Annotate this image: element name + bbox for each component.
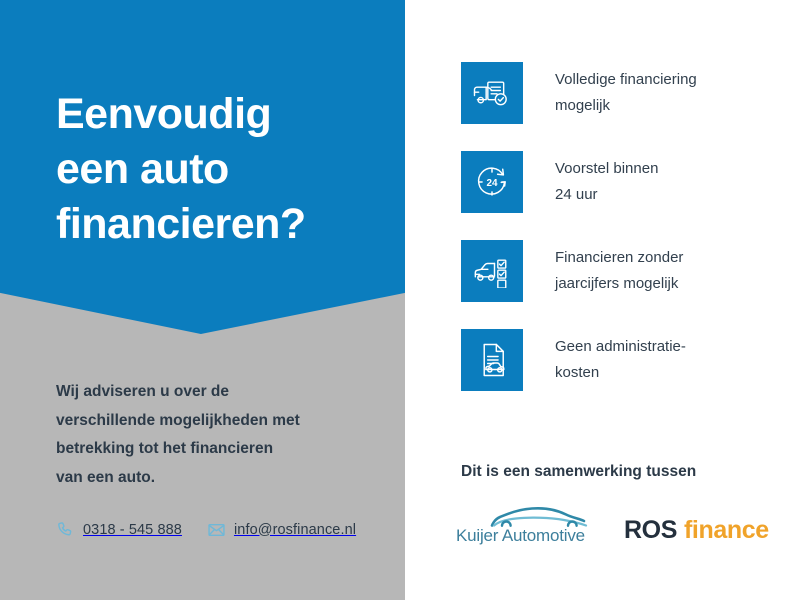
email-address: info@rosfinance.nl — [234, 522, 356, 538]
phone-number: 0318 - 545 888 — [83, 522, 182, 538]
contact-phone[interactable]: 0318 - 545 888 — [57, 521, 182, 538]
left-panel: Eenvoudig een auto financieren? Wij advi… — [0, 0, 405, 600]
feature-2-line-2: 24 uur — [555, 182, 780, 208]
truck-document-icon — [461, 62, 523, 124]
feature-item-zonder-jaarcijfers: Financieren zonder jaarcijfers mogelijk — [461, 240, 791, 302]
right-panel: Volledige financiering mogelijk 24 V — [405, 0, 800, 600]
contact-email[interactable]: info@rosfinance.nl — [208, 521, 356, 538]
envelope-icon — [208, 521, 225, 538]
contact-row: 0318 - 545 888 info@rosfinance.nl — [57, 521, 356, 538]
intro-line-4: van een auto. — [56, 464, 376, 493]
phone-icon — [57, 521, 74, 538]
feature-label: Volledige financiering mogelijk — [555, 62, 780, 119]
feature-label: Voorstel binnen 24 uur — [555, 151, 780, 208]
ros-finance-logo[interactable]: ROSfinance — [624, 516, 769, 549]
feature-3-line-2: jaarcijfers mogelijk — [555, 271, 780, 297]
ros-finance-word: finance — [684, 516, 769, 544]
feature-4-line-2: kosten — [555, 360, 780, 386]
kuijer-automotive-logo[interactable]: Kuijer Automotive — [456, 505, 596, 549]
intro-line-2: verschillende mogelijkheden met — [56, 407, 376, 436]
feature-4-line-1: Geen administratie- — [555, 334, 780, 360]
car-checklist-icon — [461, 240, 523, 302]
feature-2-line-1: Voorstel binnen — [555, 156, 780, 182]
feature-item-geen-administratiekosten: Geen administratie- kosten — [461, 329, 791, 391]
kuijer-automotive-label: Kuijer Automotive — [456, 526, 585, 546]
feature-list: Volledige financiering mogelijk 24 V — [461, 62, 791, 418]
svg-text:24: 24 — [486, 178, 498, 189]
feature-1-line-1: Volledige financiering — [555, 67, 780, 93]
page-title: Eenvoudig een auto financieren? — [56, 87, 386, 252]
feature-label: Geen administratie- kosten — [555, 329, 780, 386]
feature-1-line-2: mogelijk — [555, 93, 780, 119]
promo-poster: Eenvoudig een auto financieren? Wij advi… — [0, 0, 800, 600]
feature-item-voorstel-24-uur: 24 Voorstel binnen 24 uur — [461, 151, 791, 213]
intro-paragraph: Wij adviseren u over de verschillende mo… — [56, 378, 376, 492]
intro-line-3: betrekking tot het financieren — [56, 435, 376, 464]
clock-24-icon: 24 — [461, 151, 523, 213]
feature-label: Financieren zonder jaarcijfers mogelijk — [555, 240, 780, 297]
feature-3-line-1: Financieren zonder — [555, 245, 780, 271]
intro-line-1: Wij adviseren u over de — [56, 378, 376, 407]
headline-line-1: Eenvoudig — [56, 87, 386, 142]
partnership-heading: Dit is een samenwerking tussen — [461, 463, 696, 481]
headline-line-2: een auto — [56, 142, 386, 197]
headline-line-3: financieren? — [56, 197, 386, 252]
ros-mark: ROS — [624, 516, 677, 544]
partner-logo-row: Kuijer Automotive ROSfinance — [456, 505, 769, 549]
feature-item-volledige-financiering: Volledige financiering mogelijk — [461, 62, 791, 124]
document-car-icon — [461, 329, 523, 391]
